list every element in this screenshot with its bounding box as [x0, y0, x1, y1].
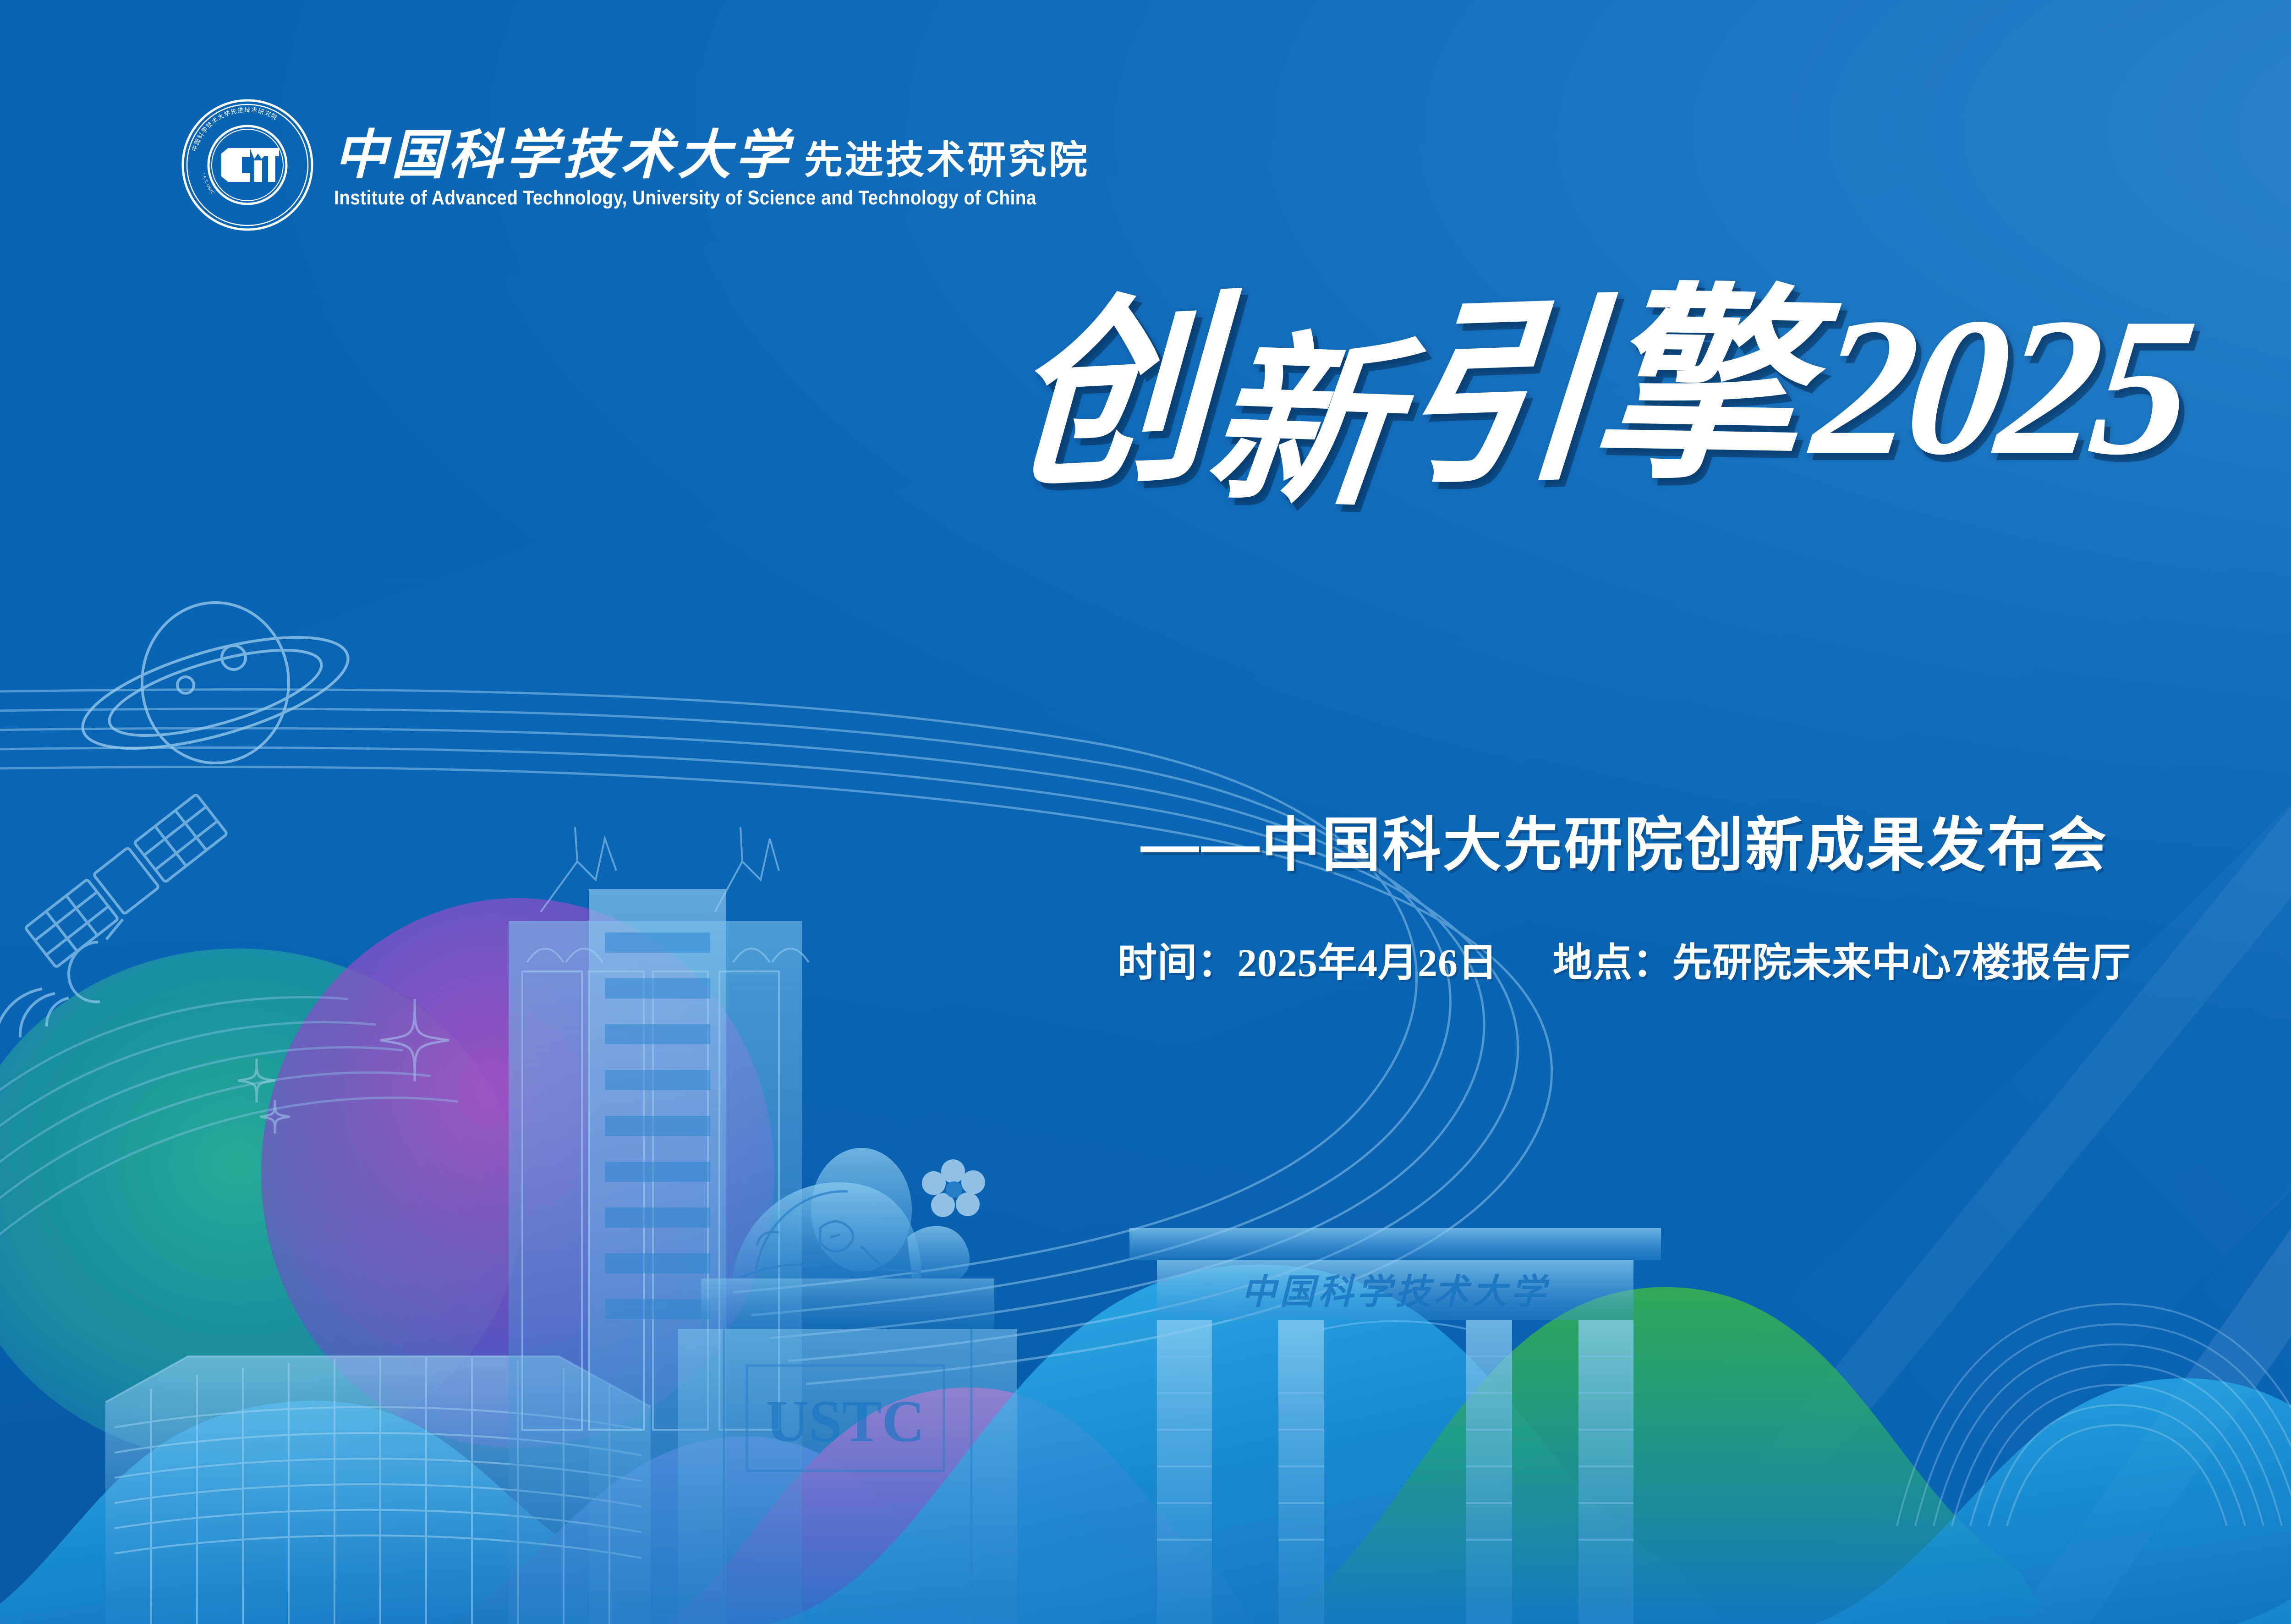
event-subtitle: ——中国科大先研院创新成果发布会 [0, 797, 2291, 882]
headline-char-4: 擎 [1585, 291, 1808, 487]
hill-arc-lines [1897, 1304, 2291, 1526]
gate-sign-label: 中国科学技术大学 [1241, 1273, 1550, 1311]
headline-year: 2025 [1806, 296, 2197, 478]
event-meta-line: 时间：2025年4月26日 地点：先研院未来中心7楼报告厅 [0, 930, 2291, 988]
logo-institute-name: 先进技术研究院 [804, 142, 1090, 180]
headline-characters: 创 新 引 擎 2025 [1009, 293, 2185, 485]
headline-char-3: 引 [1391, 303, 1598, 492]
campus-gate-icon: 中国科学技术大学 [1129, 1228, 1661, 1624]
logo-english-name: Institute of Advanced Technology, Univer… [334, 187, 1036, 209]
logo-university-name: 中国科学技术大学 [334, 129, 792, 182]
headline-char-2: 新 [1200, 337, 1398, 512]
plum-blossom-icon [922, 1159, 985, 1217]
statue-pedestal-label: USTC [766, 1388, 925, 1454]
headline-block: 创 新 引 擎 2025 [0, 293, 2291, 485]
headline-char-1: 创 [1006, 299, 1211, 495]
event-banner: USTC [0, 0, 2291, 1624]
iat-ustc-circular-emblem: 中国科学技术大学先进技术研究院 I.A.T.·USTC [181, 99, 314, 231]
logo-text-block: 中国科学技术大学 先进技术研究院 Institute of Advanced T… [334, 121, 1132, 209]
sparkle-icon [238, 999, 449, 1134]
event-time: 时间：2025年4月26日 [1118, 930, 1498, 988]
saturn-planet-icon [71, 603, 359, 771]
logo-lockup: 中国科学技术大学先进技术研究院 I.A.T.·USTC 中国科学技术大学 先进技… [181, 99, 1132, 231]
event-location: 地点：先研院未来中心7楼报告厅 [1553, 930, 2131, 988]
